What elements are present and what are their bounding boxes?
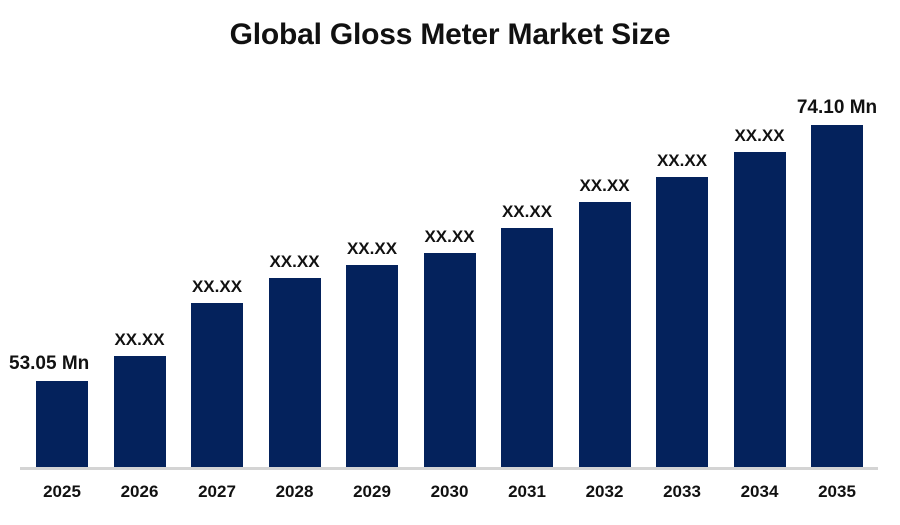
- bar[interactable]: [191, 303, 243, 467]
- bar-value-label: XX.XX: [114, 330, 164, 350]
- bar-value-label: XX.XX: [424, 227, 474, 247]
- bar-group: XX.XX: [501, 228, 553, 467]
- x-axis-tick-label: 2031: [501, 482, 553, 502]
- chart-container: Global Gloss Meter Market Size 53.05 MnX…: [0, 0, 900, 525]
- x-axis-tick-label: 2026: [114, 482, 166, 502]
- x-axis-tick-label: 2028: [269, 482, 321, 502]
- bar-value-label: 53.05 Mn: [9, 353, 89, 375]
- bar-value-label: XX.XX: [657, 151, 707, 171]
- bar-group: XX.XX: [734, 152, 786, 467]
- bar[interactable]: [811, 125, 863, 467]
- bar[interactable]: [114, 356, 166, 467]
- bar-value-label: 74.10 Mn: [797, 97, 877, 119]
- bar-value-label: XX.XX: [502, 202, 552, 222]
- bar[interactable]: [579, 202, 631, 467]
- bar-group: XX.XX: [346, 265, 398, 467]
- bar[interactable]: [346, 265, 398, 467]
- bar-group: XX.XX: [424, 253, 476, 467]
- bar-group: XX.XX: [191, 303, 243, 467]
- x-axis-line: [20, 467, 878, 470]
- x-axis-tick-label: 2033: [656, 482, 708, 502]
- x-axis-tick-label: 2025: [36, 482, 88, 502]
- bar-value-label: XX.XX: [579, 176, 629, 196]
- bar[interactable]: [36, 381, 88, 467]
- x-axis-tick-label: 2027: [191, 482, 243, 502]
- bar-group: 74.10 Mn: [811, 125, 863, 467]
- bar-value-label: XX.XX: [192, 277, 242, 297]
- bar-group: XX.XX: [579, 202, 631, 467]
- x-axis-tick-label: 2034: [734, 482, 786, 502]
- bar[interactable]: [734, 152, 786, 467]
- bar-group: XX.XX: [269, 278, 321, 467]
- bar-group: 53.05 Mn: [36, 381, 88, 467]
- bar-value-label: XX.XX: [347, 239, 397, 259]
- bar[interactable]: [269, 278, 321, 467]
- bar[interactable]: [656, 177, 708, 467]
- x-axis-tick-label: 2032: [579, 482, 631, 502]
- bar-value-label: XX.XX: [734, 126, 784, 146]
- x-axis-tick-label: 2030: [424, 482, 476, 502]
- bar-group: XX.XX: [656, 177, 708, 467]
- plot-area: 53.05 MnXX.XXXX.XXXX.XXXX.XXXX.XXXX.XXXX…: [0, 0, 900, 525]
- x-axis-tick-label: 2029: [346, 482, 398, 502]
- bar-group: XX.XX: [114, 356, 166, 467]
- bar[interactable]: [424, 253, 476, 467]
- x-axis-tick-label: 2035: [811, 482, 863, 502]
- bar[interactable]: [501, 228, 553, 467]
- bar-value-label: XX.XX: [269, 252, 319, 272]
